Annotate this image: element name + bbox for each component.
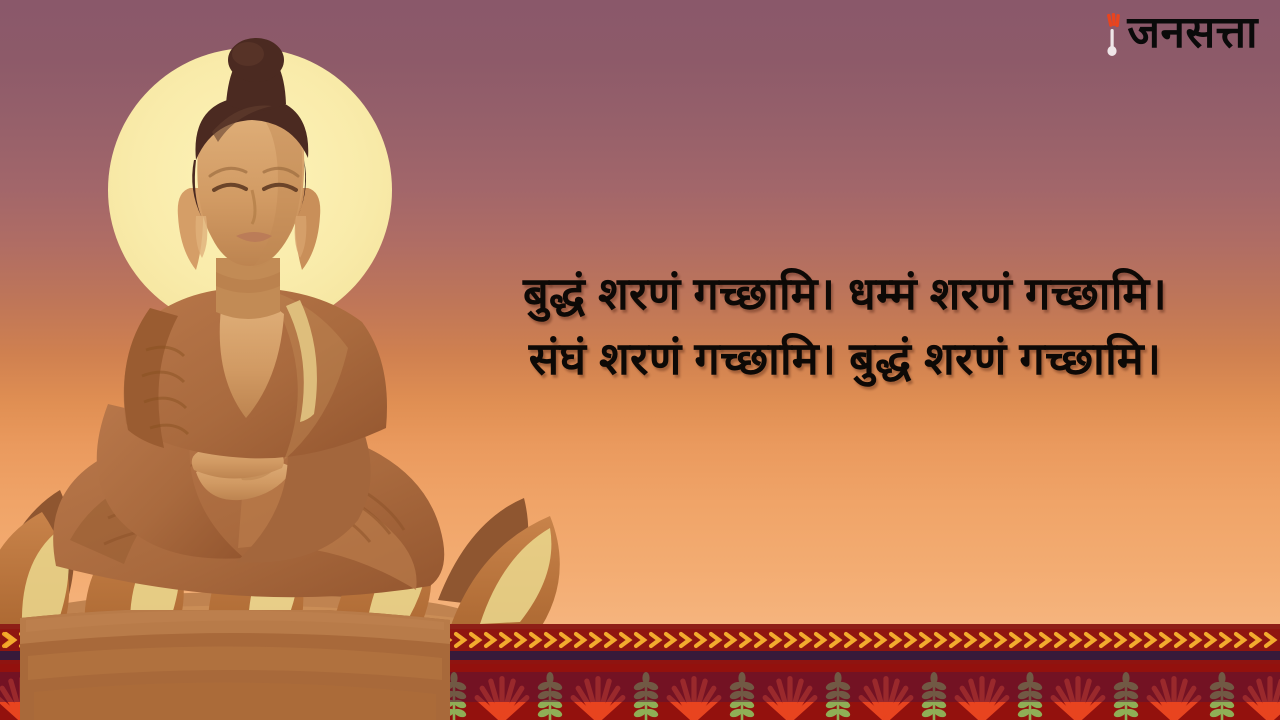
headline-text: बुद्धं शरणं गच्छामि। धम्मं शरणं गच्छामि।… [420,262,1270,392]
border-field-shade [0,672,1280,702]
jansatta-flame-mark-icon [1099,8,1125,60]
border-motif-field [0,664,1280,720]
brand-name: जनसत्ता [1127,8,1258,58]
border-chevron-band [0,629,1280,651]
brand-logo[interactable]: जनसत्ता [1099,8,1258,60]
card-canvas: बुद्धं शरणं गच्छामि। धम्मं शरणं गच्छामि।… [0,0,1280,720]
border-dark-line [0,651,1280,660]
ethnic-bottom-border [0,624,1280,720]
buddha-head [178,38,321,270]
